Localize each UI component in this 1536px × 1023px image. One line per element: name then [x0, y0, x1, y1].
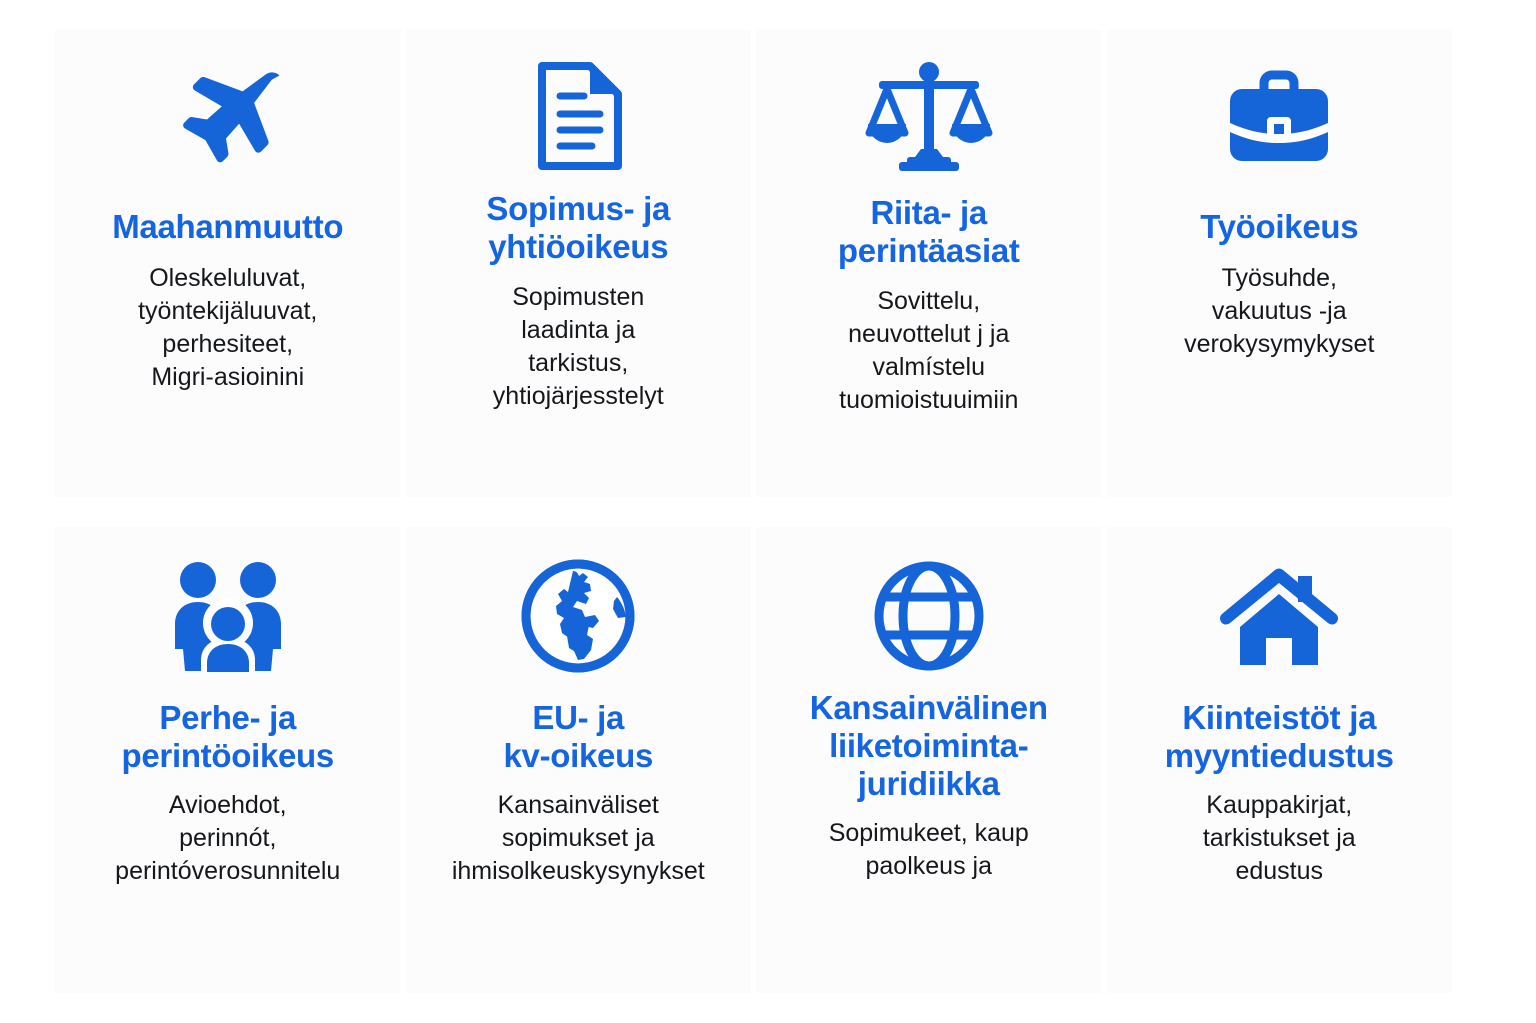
card-title: Sopimus- ja yhtiöoikeus	[486, 190, 670, 267]
card-title: Työoikeus	[1200, 208, 1358, 246]
card-description: Kansainväliset sopimukset ja ihmisolkeus…	[452, 789, 705, 888]
practice-area-card-riita-ja-perintaasiat[interactable]: Riita- ja perintäasiat Sovittelu, neuvot…	[756, 30, 1102, 497]
practice-area-card-kiinteistot-ja-myyntiedustus[interactable]: Kiinteistöt ja myyntiedustus Kauppakirja…	[1107, 527, 1453, 994]
practice-area-card-tyooikeus[interactable]: Työoikeus Työsuhde, vakuutus -ja verokys…	[1107, 30, 1453, 497]
practice-area-card-eu-ja-kv-oikeus[interactable]: EU- ja kv-oikeus Kansainväliset sopimuks…	[406, 527, 752, 994]
airplane-icon	[168, 58, 288, 174]
card-title: Riita- ja perintäasiat	[838, 194, 1020, 271]
practice-area-card-perhe-ja-perintooikeus[interactable]: Perhe- ja perintöoikeus Avioehdot, perin…	[55, 527, 401, 994]
card-description: Työsuhde, vakuutus -ja verokysymykyset	[1184, 262, 1374, 361]
card-title: Kansainvälinen liiketoiminta- juridiikka	[810, 689, 1048, 804]
scales-icon	[863, 58, 995, 174]
practice-area-card-sopimus-ja-yhtiooikeus[interactable]: Sopimus- ja yhtiöoikeus Sopimusten laadi…	[406, 30, 752, 497]
card-description: Avioehdot, perinnót, perintóverosunnitel…	[115, 789, 340, 888]
house-icon	[1218, 555, 1340, 677]
card-title: Maahanmuutto	[112, 208, 343, 246]
practice-areas-board: Maahanmuutto Oleskeluluvat, työntekijälu…	[0, 0, 1536, 1023]
document-icon	[530, 58, 626, 174]
card-description: Kauppakirjat, tarkistukset ja edustus	[1203, 789, 1356, 888]
practice-areas-grid: Maahanmuutto Oleskeluluvat, työntekijälu…	[55, 30, 1452, 993]
globe-earth-icon	[521, 555, 635, 677]
card-description: Sovittelu, neuvottelut j ja valmístelu t…	[839, 285, 1018, 417]
card-title: Kiinteistöt ja myyntiedustus	[1165, 699, 1394, 776]
card-description: Sopimusten laadinta ja tarkistus, yhtioj…	[493, 281, 664, 413]
card-title: Perhe- ja perintöoikeus	[122, 699, 334, 776]
practice-area-card-kansainvalinen-liiketoiminta-juridiikka[interactable]: Kansainvälinen liiketoiminta- juridiikka…	[756, 527, 1102, 994]
card-description: Oleskeluluvat, työntekijäluuvat, perhesi…	[138, 262, 317, 394]
family-icon	[165, 555, 291, 677]
briefcase-icon	[1224, 58, 1334, 174]
practice-area-card-maahanmuutto[interactable]: Maahanmuutto Oleskeluluvat, työntekijälu…	[55, 30, 401, 497]
card-description: Sopimukeet, kaup paolkeus ja	[829, 817, 1029, 883]
globe-wireframe-icon	[872, 555, 986, 677]
card-title: EU- ja kv-oikeus	[503, 699, 653, 776]
